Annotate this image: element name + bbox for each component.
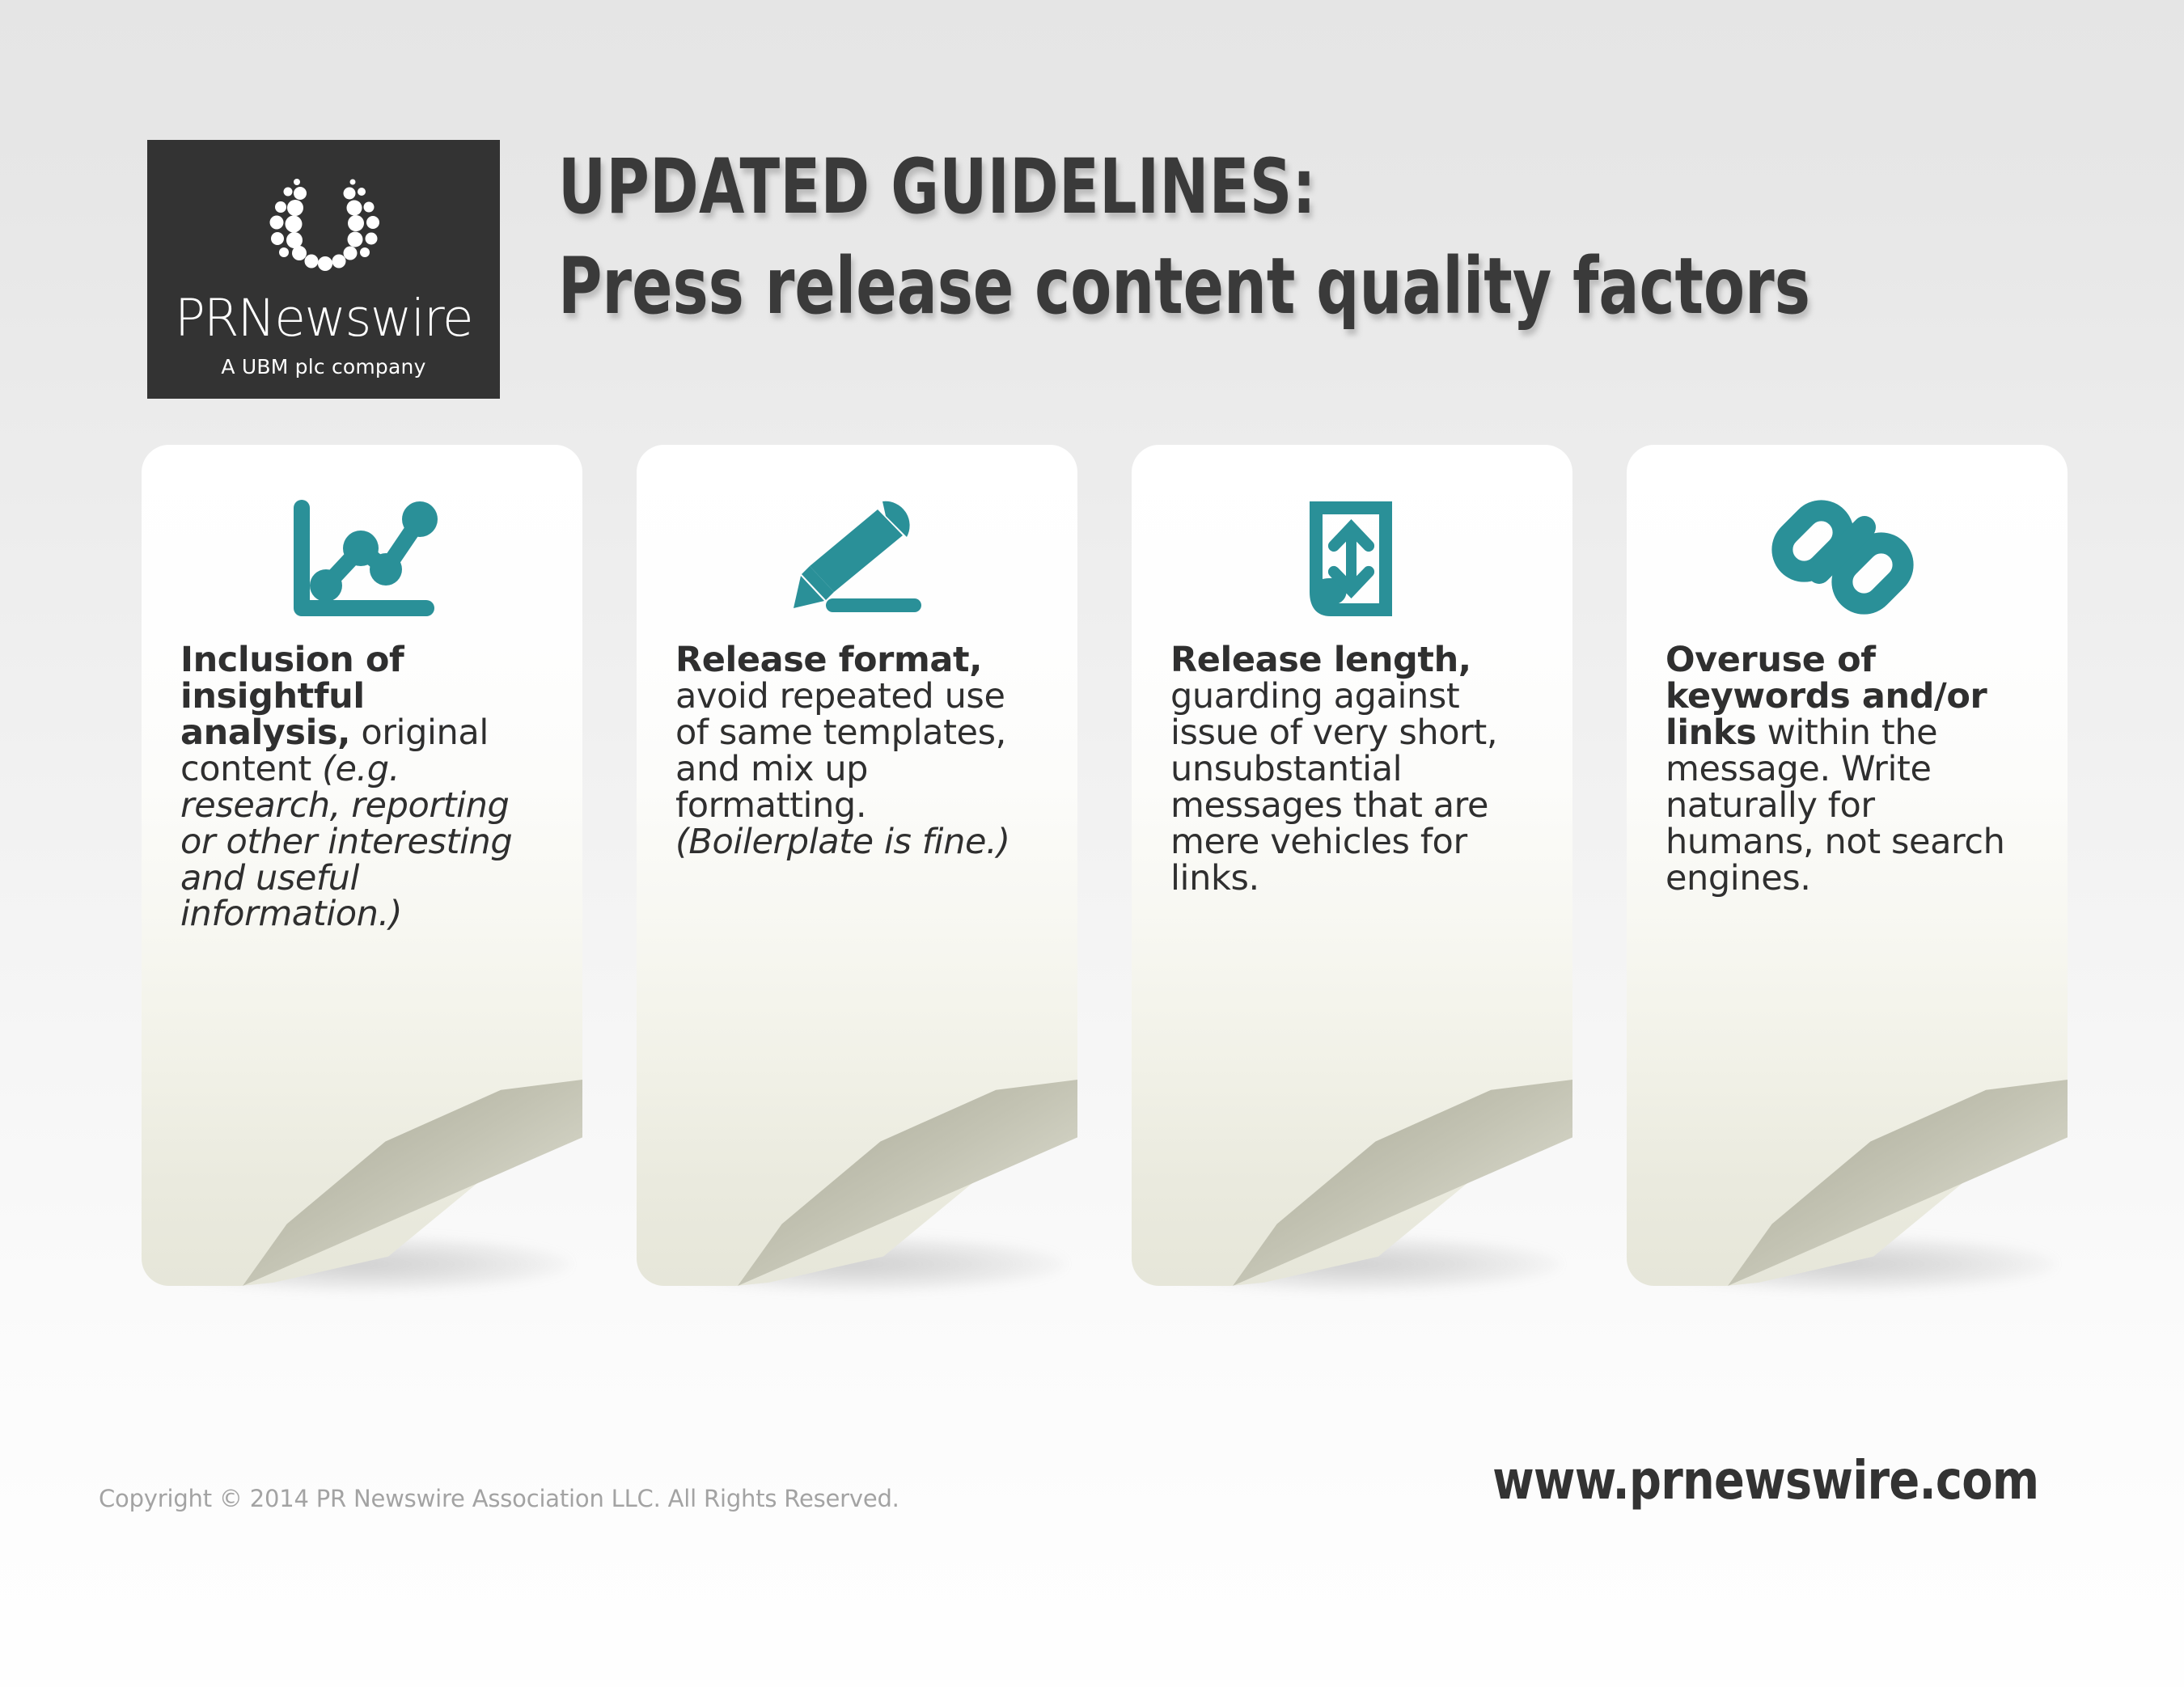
- card-bold-text: Release format,: [675, 640, 982, 680]
- guideline-card: Overuse of keywords and/or links within …: [1627, 445, 2068, 1286]
- document-height-arrow-icon: [1170, 495, 1530, 624]
- chain-link-icon: [1666, 495, 2025, 624]
- pr-newswire-logo: PRNewswire A UBM plc company: [147, 140, 500, 399]
- pencil-writing-icon: [675, 495, 1035, 624]
- header: PRNewswire A UBM plc company UPDATED GUI…: [0, 0, 2184, 421]
- logo-wordmark-newswire: Newswire: [238, 289, 473, 348]
- logo-wordmark-pr: PR: [175, 289, 238, 348]
- infographic-canvas: PRNewswire A UBM plc company UPDATED GUI…: [0, 0, 2184, 1687]
- card-body-text: Release length, guarding against issue o…: [1170, 642, 1530, 896]
- line-chart-icon: [180, 495, 540, 624]
- card-normal-text: guarding against issue of very short, un…: [1170, 676, 1497, 898]
- ubm-dotted-u-icon: [259, 174, 388, 275]
- card-body-text: Overuse of keywords and/or links within …: [1666, 642, 2025, 896]
- logo-tagline: A UBM plc company: [221, 355, 425, 378]
- guideline-card: Release length, guarding against issue o…: [1132, 445, 1572, 1286]
- card-body-text: Release format, avoid repeated use of sa…: [675, 642, 1035, 860]
- guideline-card: Inclusion of insightful analysis, origin…: [142, 445, 582, 1286]
- footer: Copyright © 2014 PR Newswire Association…: [0, 1431, 2184, 1577]
- website-url[interactable]: www.prnewswire.com: [1492, 1449, 2038, 1512]
- guidelines-card-list: Inclusion of insightful analysis, origin…: [142, 445, 2038, 1334]
- copyright-text: Copyright © 2014 PR Newswire Association…: [99, 1485, 899, 1512]
- card-bold-text: Release length,: [1170, 640, 1471, 680]
- card-normal-text: avoid repeated use of same templates, an…: [675, 676, 1006, 826]
- card-italic-text: (Boilerplate is fine.): [675, 822, 1010, 862]
- card-body-text: Inclusion of insightful analysis, origin…: [180, 642, 540, 932]
- logo-wordmark: PRNewswire: [175, 293, 472, 344]
- guideline-card: Release format, avoid repeated use of sa…: [637, 445, 1077, 1286]
- headline-line-2: Press release content quality factors: [558, 246, 1880, 328]
- page-title: UPDATED GUIDELINES: Press release conten…: [558, 147, 2095, 328]
- headline-line-1: UPDATED GUIDELINES:: [558, 147, 1880, 228]
